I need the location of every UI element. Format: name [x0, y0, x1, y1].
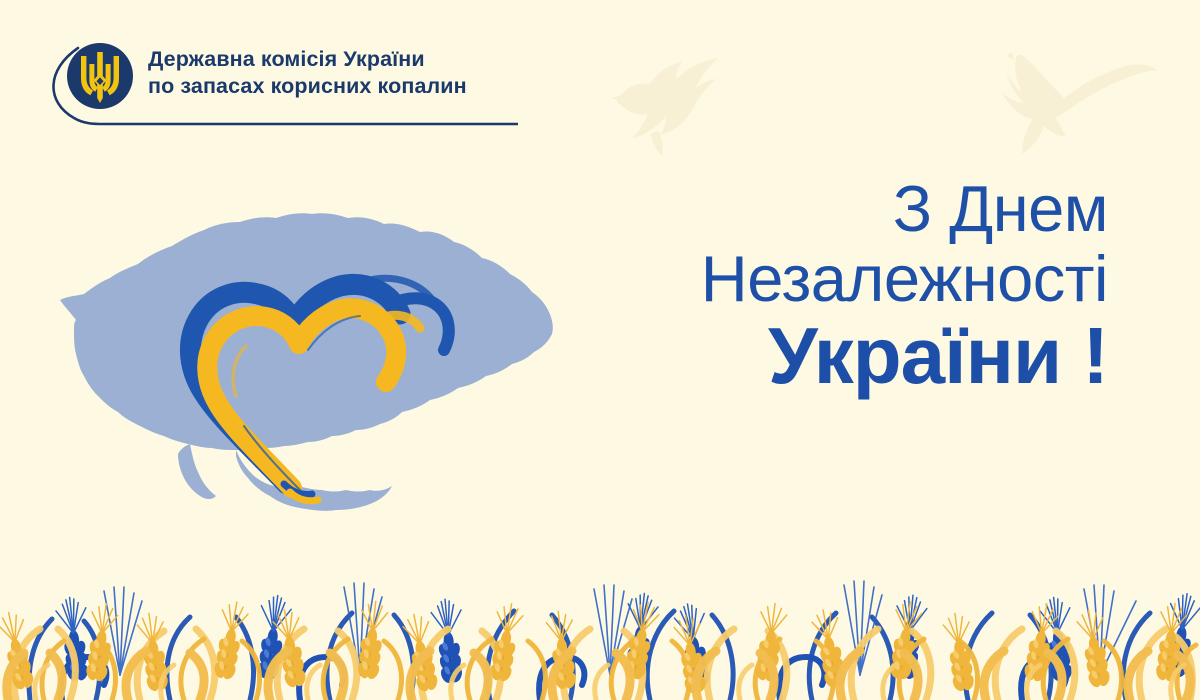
ukrainian-trident-emblem-icon	[64, 40, 136, 112]
greeting-line-1: З Днем	[701, 176, 1108, 242]
greeting-line-2: Незалежності	[701, 246, 1108, 312]
organization-logo: Державна комісія України по запасах кори…	[48, 36, 528, 136]
wheat-field-border	[0, 525, 1200, 700]
greeting-card: Державна комісія України по запасах кори…	[0, 0, 1200, 700]
organization-name: Державна комісія України по запасах кори…	[148, 46, 467, 100]
organization-name-line2: по запасах корисних копалин	[148, 73, 467, 100]
ukraine-map-silhouette	[60, 213, 553, 511]
ukraine-map-with-heart	[40, 200, 560, 530]
greeting-line-3: України !	[701, 315, 1108, 397]
organization-name-line1: Державна комісія України	[148, 46, 467, 73]
greeting-headline: З Днем Незалежності України !	[701, 176, 1108, 396]
peace-dove-right-icon	[988, 34, 1158, 159]
peace-dove-left-icon	[608, 38, 738, 158]
